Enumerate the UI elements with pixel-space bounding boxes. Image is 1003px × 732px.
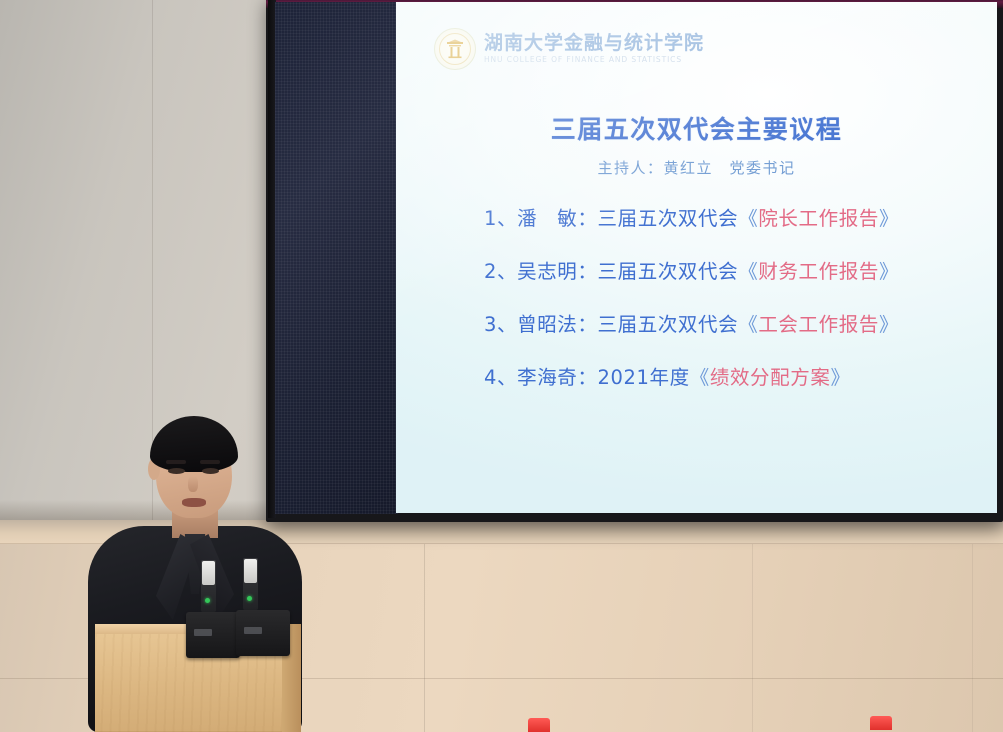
hnu-seal-icon	[434, 28, 476, 70]
slide-title: 三届五次双代会主要议程	[396, 110, 997, 146]
lecture-hall-photo: 湖南大学金融与统计学院 HNU COLLEGE OF FINANCE AND S…	[0, 0, 1003, 732]
microphone-base-label-right	[244, 627, 262, 634]
agenda-index: 3、	[484, 313, 517, 336]
presenter-nose	[188, 476, 198, 492]
microphone-base-label-left	[194, 629, 212, 636]
bracket-close: 》	[879, 207, 899, 230]
bracket-open: 《	[738, 207, 758, 230]
agenda-list: 1、潘 敏：三届五次双代会《院长工作报告》 2、吴志明：三届五次双代会《财务工作…	[484, 202, 984, 414]
microphone-base-left	[186, 612, 240, 658]
logo-chinese-name: 湖南大学金融与统计学院	[484, 34, 704, 53]
presenter-mouth	[182, 498, 206, 507]
agenda-speaker: 李海奇：	[517, 366, 597, 389]
chair-back	[528, 718, 550, 732]
logo-text-block: 湖南大学金融与统计学院 HNU COLLEGE OF FINANCE AND S…	[484, 34, 704, 64]
agenda-document: 院长工作报告	[758, 207, 879, 230]
microphone-led-left	[205, 598, 210, 603]
gate-glyph-icon	[446, 39, 464, 59]
presenter-hair	[150, 416, 238, 472]
presenter-eyebrow-right	[200, 460, 220, 464]
slide-subtitle: 主持人：黄红立 党委书记	[396, 157, 997, 178]
bracket-close: 》	[879, 260, 899, 283]
agenda-context: 2021年度	[598, 366, 690, 389]
agenda-document: 工会工作报告	[758, 313, 879, 336]
agenda-context: 三届五次双代会	[598, 313, 739, 336]
agenda-index: 2、	[484, 260, 517, 283]
agenda-speaker: 潘 敏：	[517, 207, 597, 230]
presenter-eye-left	[168, 468, 185, 474]
wall-seam-vertical	[972, 544, 973, 732]
bracket-open: 《	[690, 366, 710, 389]
bracket-open: 《	[738, 260, 758, 283]
bracket-close: 》	[830, 366, 850, 389]
agenda-index: 1、	[484, 207, 517, 230]
agenda-context: 三届五次双代会	[598, 260, 739, 283]
agenda-index: 4、	[484, 366, 517, 389]
agenda-item: 2、吴志明：三届五次双代会《财务工作报告》	[484, 255, 984, 284]
bracket-open: 《	[738, 313, 758, 336]
chair-back	[870, 716, 892, 730]
bracket-close: 》	[879, 313, 899, 336]
agenda-item: 1、潘 敏：三届五次双代会《院长工作报告》	[484, 202, 984, 231]
microphone-base-right	[236, 610, 290, 656]
presenter-eyebrow-left	[166, 460, 186, 464]
microphone-led-right	[247, 596, 252, 601]
agenda-speaker: 吴志明：	[517, 260, 597, 283]
agenda-document: 绩效分配方案	[710, 366, 831, 389]
agenda-speaker: 曾昭法：	[517, 313, 597, 336]
agenda-item: 3、曾昭法：三届五次双代会《工会工作报告》	[484, 308, 984, 337]
wall-seam-vertical	[752, 544, 753, 732]
microphone-capsule-right	[244, 559, 257, 583]
agenda-context: 三届五次双代会	[598, 207, 739, 230]
projected-slide: 湖南大学金融与统计学院 HNU COLLEGE OF FINANCE AND S…	[396, 2, 997, 513]
institution-logo: 湖南大学金融与统计学院 HNU COLLEGE OF FINANCE AND S…	[434, 28, 704, 70]
wall-seam-vertical	[424, 544, 425, 732]
agenda-item: 4、李海奇：2021年度《绩效分配方案》	[484, 361, 984, 390]
microphone-capsule-left	[202, 561, 215, 585]
presenter-eye-right	[202, 468, 219, 474]
agenda-document: 财务工作报告	[758, 260, 879, 283]
logo-english-name: HNU COLLEGE OF FINANCE AND STATISTICS	[484, 56, 704, 64]
